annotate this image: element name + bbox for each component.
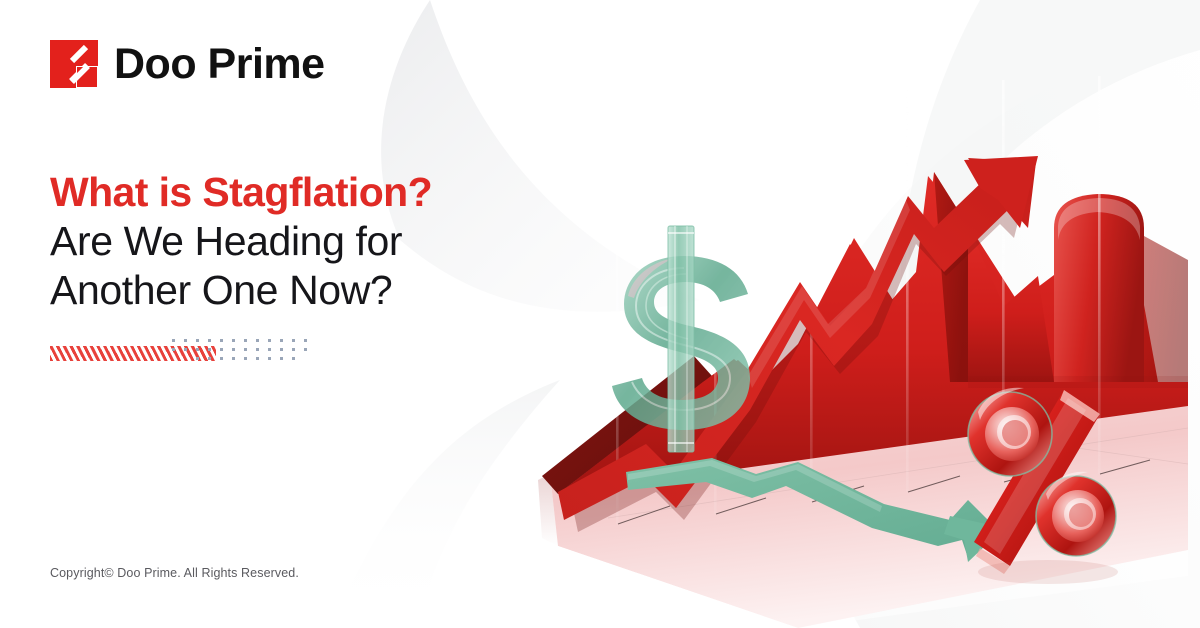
decorative-rule [50,337,320,369]
stagflation-illustration [498,76,1188,628]
copyright-text: Copyright© Doo Prime. All Rights Reserve… [50,566,299,580]
headline-line-3: Another One Now? [50,266,570,315]
doo-prime-mark-icon [50,40,98,88]
headline-block: What is Stagflation? Are We Heading for … [50,168,570,316]
banner-root: Doo Prime What is Stagflation? Are We He… [0,0,1200,628]
headline-line-2: Are We Heading for [50,217,570,266]
headline-line-1: What is Stagflation? [50,168,570,217]
brand-logo[interactable]: Doo Prime [50,40,325,88]
brand-name: Doo Prime [114,43,325,86]
stagflation-chart-icon [498,76,1188,628]
plus-dot-grid-icon [170,337,322,365]
